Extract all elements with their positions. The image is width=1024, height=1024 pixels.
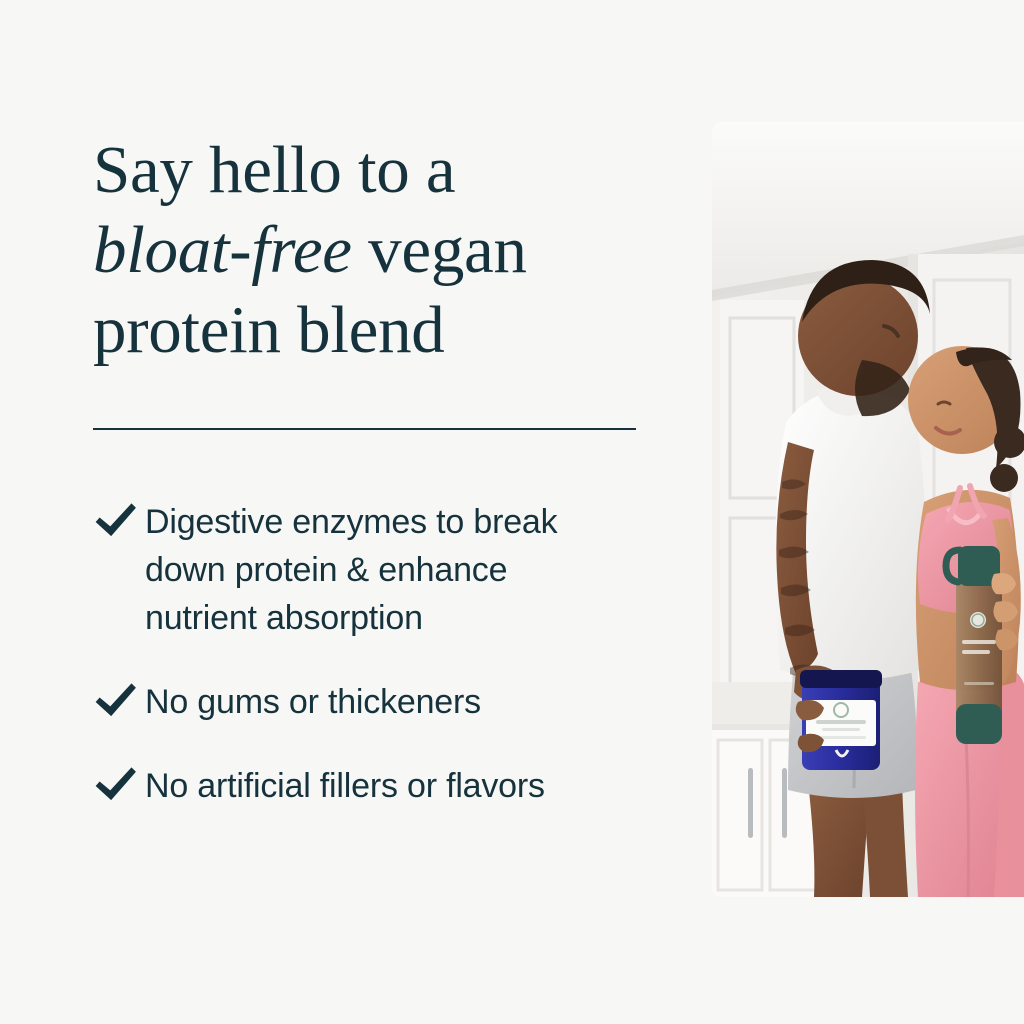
photo-illustration: [712, 122, 1024, 897]
list-item: No gums or thickeners: [93, 678, 663, 726]
check-icon: [93, 762, 145, 805]
check-icon: [93, 678, 145, 721]
headline-line-2: bloat-free vegan: [93, 210, 653, 290]
promo-canvas: Say hello to a bloat-free vegan protein …: [0, 0, 1024, 1024]
text-column: Say hello to a bloat-free vegan protein …: [93, 130, 653, 370]
benefits-list: Digestive enzymes to break down protein …: [93, 498, 663, 810]
section-divider: [93, 428, 636, 430]
headline-line-1: Say hello to a: [93, 130, 653, 210]
list-item: No artificial fillers or flavors: [93, 762, 663, 810]
headline-line-2-rest: vegan: [352, 213, 527, 287]
headline-emphasis: bloat-free: [93, 213, 352, 287]
headline-line-3: protein blend: [93, 290, 653, 370]
list-item-label: Digestive enzymes to break down protein …: [145, 498, 625, 642]
list-item: Digestive enzymes to break down protein …: [93, 498, 663, 642]
list-item-label: No artificial fillers or flavors: [145, 762, 545, 810]
protein-container: [800, 670, 882, 770]
check-icon: [93, 498, 145, 541]
list-item-label: No gums or thickeners: [145, 678, 481, 726]
page-title: Say hello to a bloat-free vegan protein …: [93, 130, 653, 370]
lifestyle-photo: [712, 122, 1024, 897]
